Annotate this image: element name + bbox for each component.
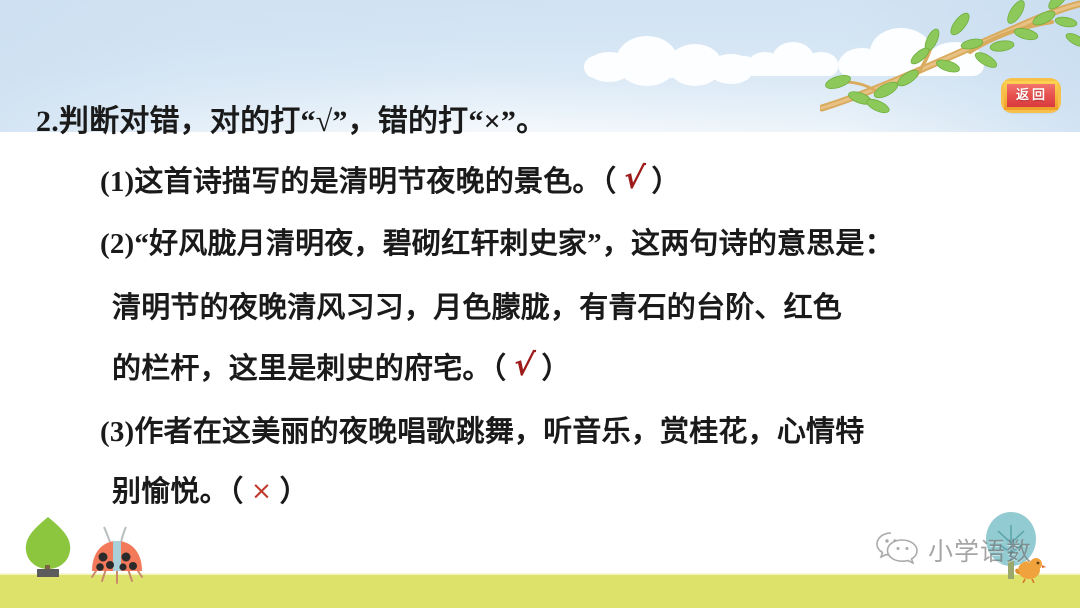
statement-2-line-1: (2)“好风胧月清明夜，碧砌红轩刺史家”，这两句诗的意思是： xyxy=(100,220,894,262)
slide-canvas: 返 回 2.判断对错，对的打“√”，错的打“×”。 (1)这首诗描写的是清明节夜… xyxy=(0,0,1080,608)
statement-1-close: ） xyxy=(651,166,680,198)
chick-icon xyxy=(1012,553,1046,588)
statement-3-line-2-text: 别愉悦。（ xyxy=(112,476,244,508)
answer-mark-1: √ xyxy=(621,161,646,196)
statement-1-text: (1)这首诗描写的是清明节夜晚的景色。（ xyxy=(100,166,616,198)
statement-2-line-3-text: 的栏杆，这里是刺史的府宅。（ xyxy=(112,353,506,385)
statement-3-close: ） xyxy=(280,476,309,508)
question-content: 2.判断对错，对的打“√”，错的打“×”。 (1)这首诗描写的是清明节夜晚的景色… xyxy=(0,0,1080,540)
tree-icon xyxy=(20,515,76,584)
statement-3-line-1: (3)作者在这美丽的夜晚唱歌跳舞，听音乐，赏桂花，心情特 xyxy=(100,408,864,450)
statement-2-line-2: 清明节的夜晚清风习习，月色朦胧，有青石的台阶、红色 xyxy=(112,284,842,326)
question-number: 2. xyxy=(36,105,59,138)
question-title-text: 判断对错，对的打“√”，错的打“×”。 xyxy=(59,105,546,138)
answer-mark-2: √ xyxy=(511,348,536,383)
ground-band xyxy=(0,575,1080,608)
ladybug-icon xyxy=(86,525,148,590)
statement-2-line-3: 的栏杆，这里是刺史的府宅。（ √ ） xyxy=(112,345,571,387)
statement-3-line-2: 别愉悦。（ × ） xyxy=(112,468,309,510)
statement-2-close: ） xyxy=(541,353,570,385)
answer-mark-3: × xyxy=(251,476,272,505)
question-title: 2.判断对错，对的打“√”，错的打“×”。 xyxy=(36,96,546,140)
statement-1: (1)这首诗描写的是清明节夜晚的景色。（ √ ） xyxy=(100,158,681,200)
